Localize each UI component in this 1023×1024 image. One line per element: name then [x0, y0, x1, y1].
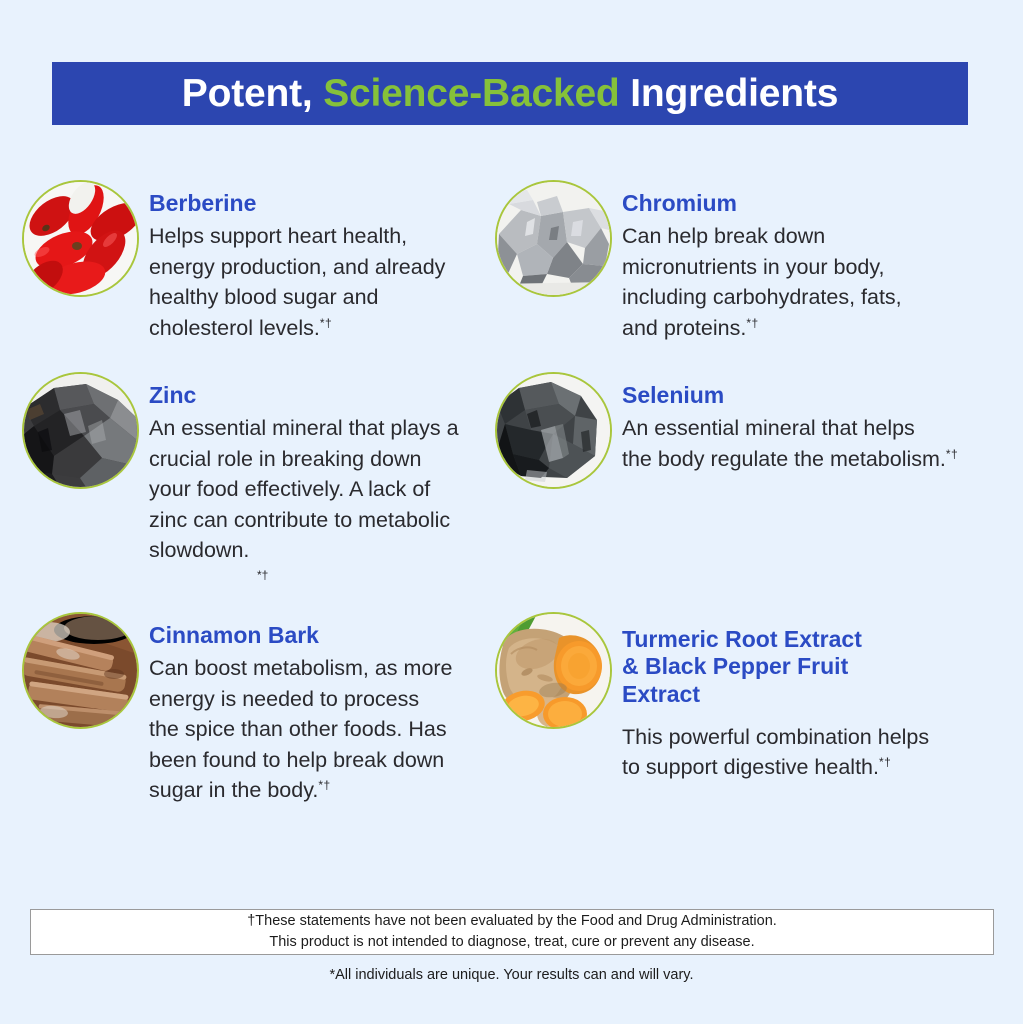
ingredient-text: Zinc An essential mineral that plays a c…: [149, 372, 490, 582]
fda-disclaimer-box: †These statements have not been evaluate…: [30, 909, 994, 955]
turmeric-root-image: [495, 612, 612, 729]
banner-text-after: Ingredients: [620, 72, 839, 115]
ingredient-description: An essential mineral that plays a crucia…: [149, 413, 490, 582]
berberine-berries-image: [22, 180, 139, 297]
thumb-wrap: [22, 180, 139, 297]
ingredient-text: Berberine Helps support heart health, en…: [149, 180, 490, 343]
fda-disclaimer-line-2: This product is not intended to diagnose…: [269, 932, 754, 953]
ingredient-description-text: Can boost metabolism, as more energy is …: [149, 656, 453, 802]
ingredient-description-text: This powerful combination helps to suppo…: [622, 725, 929, 780]
ingredient-item-turmeric-black-pepper: Turmeric Root Extract & Black Pepper Fru…: [495, 612, 1023, 782]
ingredient-cell: Cinnamon Bark Can boost metabolism, as m…: [0, 612, 490, 806]
ingredient-description: An essential mineral that helps the body…: [622, 413, 1023, 474]
ingredient-text: Turmeric Root Extract & Black Pepper Fru…: [622, 612, 1023, 782]
ingredient-title: Selenium: [622, 382, 1023, 409]
ingredient-footnote-marker: *†: [318, 778, 330, 792]
ingredient-footnote-marker: *†: [879, 755, 891, 769]
banner-text-before: Potent,: [182, 72, 323, 115]
ingredient-item-chromium: Chromium Can help break down micronutrie…: [495, 180, 1023, 343]
thumb-wrap: [495, 180, 612, 297]
chromium-metal-image: [495, 180, 612, 297]
ingredient-title: Berberine: [149, 190, 490, 217]
fda-disclaimer-line-1: †These statements have not been evaluate…: [247, 911, 777, 932]
ingredient-row: Zinc An essential mineral that plays a c…: [0, 372, 1023, 582]
header-banner: Potent, Science-Backed Ingredients: [52, 62, 968, 125]
ingredient-cell: Zinc An essential mineral that plays a c…: [0, 372, 490, 582]
ingredient-text: Cinnamon Bark Can boost metabolism, as m…: [149, 612, 490, 806]
ingredient-item-berberine: Berberine Helps support heart health, en…: [22, 180, 490, 343]
ingredient-cell: Chromium Can help break down micronutrie…: [490, 180, 1023, 343]
ingredient-description: Helps support heart health, energy produ…: [149, 221, 490, 343]
ingredient-description: Can help break down micronutrients in yo…: [622, 221, 1023, 343]
selenium-mineral-image: [495, 372, 612, 489]
ingredient-item-selenium: Selenium An essential mineral that helps…: [495, 372, 1023, 489]
ingredient-cell: Berberine Helps support heart health, en…: [0, 180, 490, 343]
ingredient-item-cinnamon-bark: Cinnamon Bark Can boost metabolism, as m…: [22, 612, 490, 806]
ingredient-description-text: Helps support heart health, energy produ…: [149, 224, 445, 340]
ingredient-title: Zinc: [149, 382, 490, 409]
ingredient-item-zinc: Zinc An essential mineral that plays a c…: [22, 372, 490, 582]
thumb-wrap: [495, 612, 612, 729]
ingredient-title: Chromium: [622, 190, 1023, 217]
ingredient-description-text: An essential mineral that helps the body…: [622, 416, 946, 471]
page-title: Potent, Science-Backed Ingredients: [182, 72, 838, 116]
ingredients-grid: Berberine Helps support heart health, en…: [0, 180, 1023, 806]
thumb-wrap: [495, 372, 612, 489]
banner-text-accent: Science-Backed: [323, 72, 619, 115]
ingredient-description-text: An essential mineral that plays a crucia…: [149, 416, 459, 562]
ingredient-title: Turmeric Root Extract & Black Pepper Fru…: [622, 622, 1023, 707]
thumb-wrap: [22, 612, 139, 729]
ingredient-footnote-marker: *†: [149, 568, 490, 582]
ingredient-footnote-marker: *†: [320, 316, 332, 330]
ingredient-row: Cinnamon Bark Can boost metabolism, as m…: [0, 612, 1023, 806]
ingredient-text: Chromium Can help break down micronutrie…: [622, 180, 1023, 343]
ingredient-cell: Turmeric Root Extract & Black Pepper Fru…: [490, 612, 1023, 806]
zinc-mineral-image: [22, 372, 139, 489]
ingredient-footnote-marker: *†: [746, 316, 758, 330]
results-vary-note: *All individuals are unique. Your result…: [0, 967, 1023, 983]
cinnamon-bark-image: [22, 612, 139, 729]
ingredient-description: Can boost metabolism, as more energy is …: [149, 653, 490, 806]
ingredient-title: Cinnamon Bark: [149, 622, 490, 649]
ingredient-text: Selenium An essential mineral that helps…: [622, 372, 1023, 474]
ingredient-row: Berberine Helps support heart health, en…: [0, 180, 1023, 343]
ingredient-description-text: Can help break down micronutrients in yo…: [622, 224, 902, 340]
thumb-wrap: [22, 372, 139, 489]
ingredient-cell: Selenium An essential mineral that helps…: [490, 372, 1023, 582]
ingredient-footnote-marker: *†: [946, 447, 958, 461]
ingredient-description: This powerful combination helps to suppo…: [622, 722, 1023, 783]
